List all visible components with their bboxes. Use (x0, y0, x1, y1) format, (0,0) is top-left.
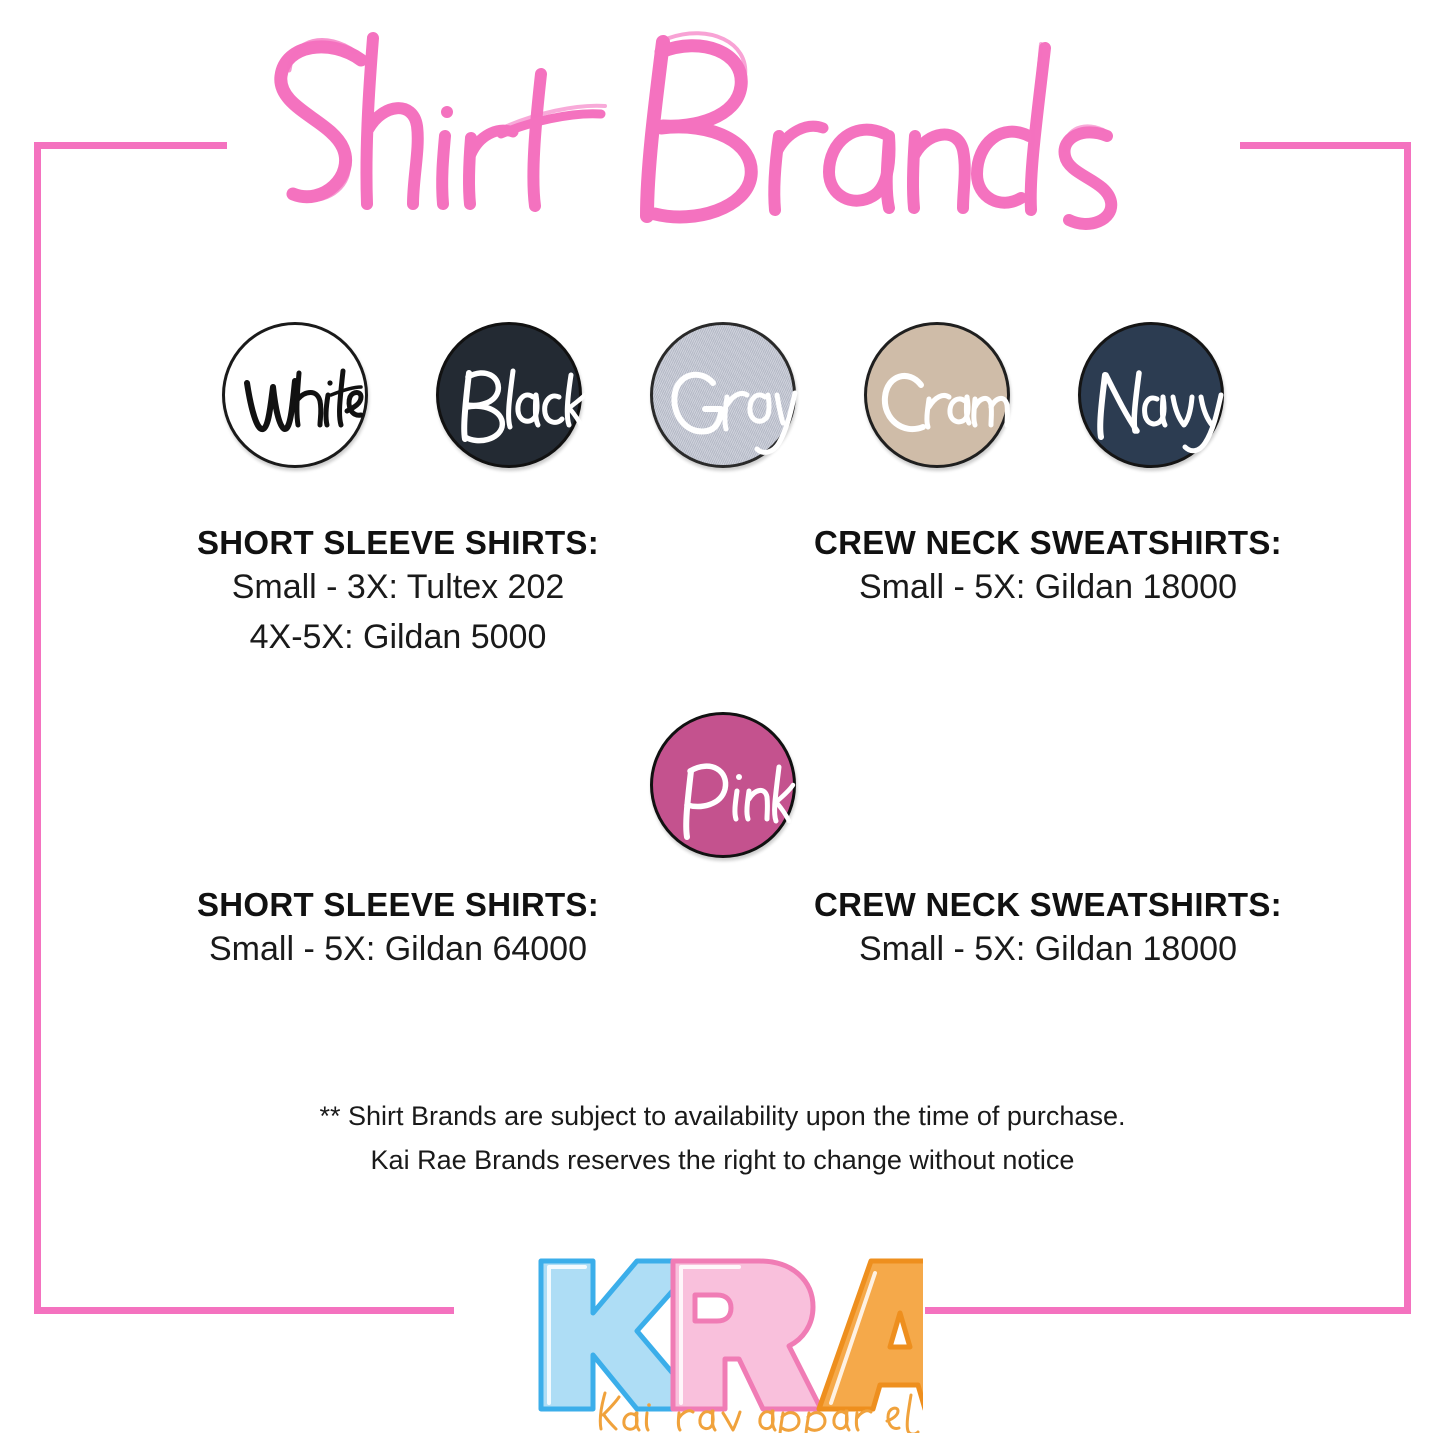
title-script-lettering (223, 8, 1223, 258)
info-block-short-sleeve-top: SHORT SLEEVE SHIRTS: Small - 3X: Tultex … (78, 524, 718, 663)
info-block-short-sleeve-bottom: SHORT SLEEVE SHIRTS: Small - 5X: Gildan … (78, 886, 718, 974)
kra-logo (0, 1243, 1445, 1433)
disclaimer-line-1: ** Shirt Brands are subject to availabil… (0, 1095, 1445, 1139)
swatch-label-white (225, 325, 371, 471)
info-line: Small - 5X: Gildan 64000 (78, 924, 718, 974)
info-heading: SHORT SLEEVE SHIRTS: (78, 886, 718, 924)
swatch-label-navy (1081, 325, 1227, 471)
info-heading: CREW NECK SWEATSHIRTS: (728, 886, 1368, 924)
info-line: Small - 5X: Gildan 18000 (728, 562, 1368, 612)
logo-letter-a (819, 1261, 923, 1409)
info-heading: SHORT SLEEVE SHIRTS: (78, 524, 718, 562)
info-line: Small - 5X: Gildan 18000 (728, 924, 1368, 974)
swatch-white[interactable] (222, 322, 368, 468)
color-swatch-row-main (0, 322, 1445, 468)
color-swatch-row-pink (0, 712, 1445, 858)
swatch-navy[interactable] (1078, 322, 1224, 468)
swatch-black[interactable] (436, 322, 582, 468)
shirt-brands-graphic: SHORT SLEEVE SHIRTS: Small - 3X: Tultex … (0, 0, 1445, 1445)
swatch-label-pink (653, 715, 799, 861)
info-line: Small - 3X: Tultex 202 (78, 562, 718, 612)
logo-letter-r (673, 1261, 821, 1409)
disclaimer: ** Shirt Brands are subject to availabil… (0, 1095, 1445, 1182)
swatch-grey[interactable] (650, 322, 796, 468)
frame-top-left-segment (34, 142, 227, 149)
swatch-label-black (439, 325, 585, 471)
frame-top-right-segment (1240, 142, 1411, 149)
info-line: 4X-5X: Gildan 5000 (78, 612, 718, 662)
swatch-label-cream (867, 325, 1013, 471)
disclaimer-line-2: Kai Rae Brands reserves the right to cha… (0, 1139, 1445, 1183)
info-block-crew-neck-bottom: CREW NECK SWEATSHIRTS: Small - 5X: Gilda… (728, 886, 1368, 974)
swatch-pink[interactable] (650, 712, 796, 858)
info-block-crew-neck-top: CREW NECK SWEATSHIRTS: Small - 5X: Gilda… (728, 524, 1368, 612)
kra-logo-graphic (523, 1243, 923, 1433)
swatch-cream[interactable] (864, 322, 1010, 468)
page-title (0, 8, 1445, 258)
info-heading: CREW NECK SWEATSHIRTS: (728, 524, 1368, 562)
swatch-label-grey (653, 325, 799, 471)
